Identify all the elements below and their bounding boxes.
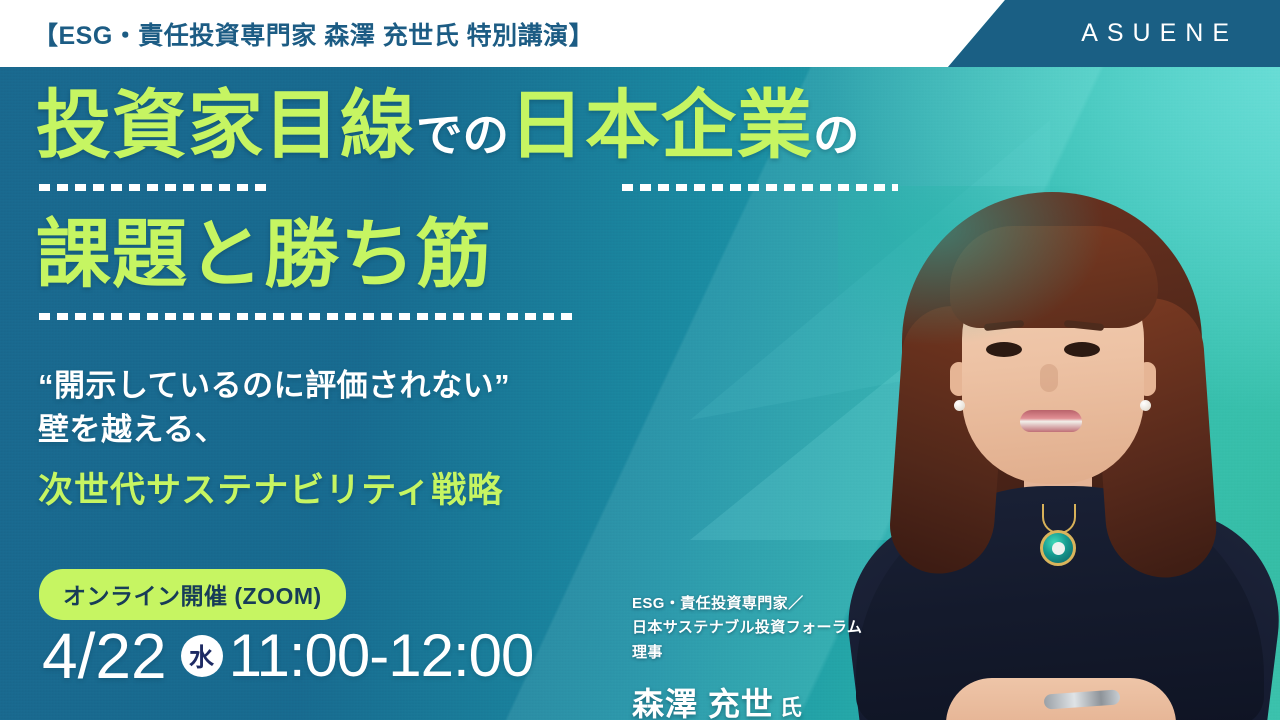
- event-time: 11:00-12:00: [229, 626, 534, 686]
- portrait-pendant-hole: [1052, 542, 1065, 555]
- speaker-name: 森澤 充世氏: [632, 679, 862, 720]
- title-underline-row-1: [36, 184, 860, 195]
- speaker-info: ESG・責任投資専門家／ 日本サステナブル投資フォーラム 理事 森澤 充世氏: [632, 592, 862, 720]
- speaker-portrait: [838, 186, 1280, 720]
- event-datetime: 4/22 水 11:00-12:00: [42, 624, 533, 688]
- subtitle-line-2: 壁を越える、: [38, 408, 510, 452]
- title-underline-row-2: [36, 313, 860, 324]
- portrait-eye-left: [986, 342, 1022, 357]
- title-segment-green-2: 日本企業: [509, 83, 813, 167]
- speaker-role-line-3: 理事: [632, 641, 862, 665]
- title-segment-green-1: 投資家目線: [36, 83, 416, 167]
- portrait-earring-right: [1140, 400, 1151, 411]
- portrait-nose: [1040, 364, 1058, 392]
- title-segment-white-2: の: [813, 109, 860, 161]
- asuene-logo: ASUENE: [1081, 0, 1238, 67]
- webinar-banner: 【ESG・責任投資専門家 森澤 充世氏 特別講演】 ASUENE 投資家目線での…: [0, 0, 1280, 720]
- portrait-mouth: [1020, 410, 1082, 432]
- title-segment-white-1: での: [416, 109, 509, 161]
- dashed-underline-b: [622, 184, 898, 191]
- subtitle-line-3-highlight: 次世代サステナビリティ戦略: [38, 462, 510, 513]
- header-title: 【ESG・責任投資専門家 森澤 充世氏 特別講演】: [33, 0, 594, 67]
- speaker-role-line-1: ESG・責任投資専門家／: [632, 592, 862, 616]
- dashed-underline-a: [39, 184, 271, 191]
- portrait-eye-right: [1064, 342, 1100, 357]
- portrait-hair-fringe: [950, 226, 1158, 328]
- speaker-name-suffix: 氏: [780, 695, 803, 720]
- dashed-underline-c: [39, 313, 579, 320]
- online-event-badge: オンライン開催 (ZOOM): [39, 569, 346, 620]
- subtitle-block: “開示しているのに評価されない” 壁を越える、 次世代サステナビリティ戦略: [38, 364, 510, 513]
- speaker-role-line-2: 日本サステナブル投資フォーラム: [632, 616, 862, 640]
- main-title-block: 投資家目線での日本企業の 課題と勝ち筋: [36, 88, 860, 324]
- title-line-2: 課題と勝ち筋: [36, 217, 860, 313]
- header-bar: 【ESG・責任投資専門家 森澤 充世氏 特別講演】 ASUENE: [0, 0, 1280, 67]
- event-date: 4/22: [42, 624, 167, 688]
- event-day-badge: 水: [181, 635, 223, 677]
- portrait-earring-left: [954, 400, 965, 411]
- subtitle-line-1: “開示しているのに評価されない”: [38, 364, 510, 408]
- speaker-name-text: 森澤 充世: [632, 686, 774, 720]
- title-line-1: 投資家目線での日本企業の: [36, 88, 860, 184]
- title-segment-green-3: 課題と勝ち筋: [36, 212, 492, 296]
